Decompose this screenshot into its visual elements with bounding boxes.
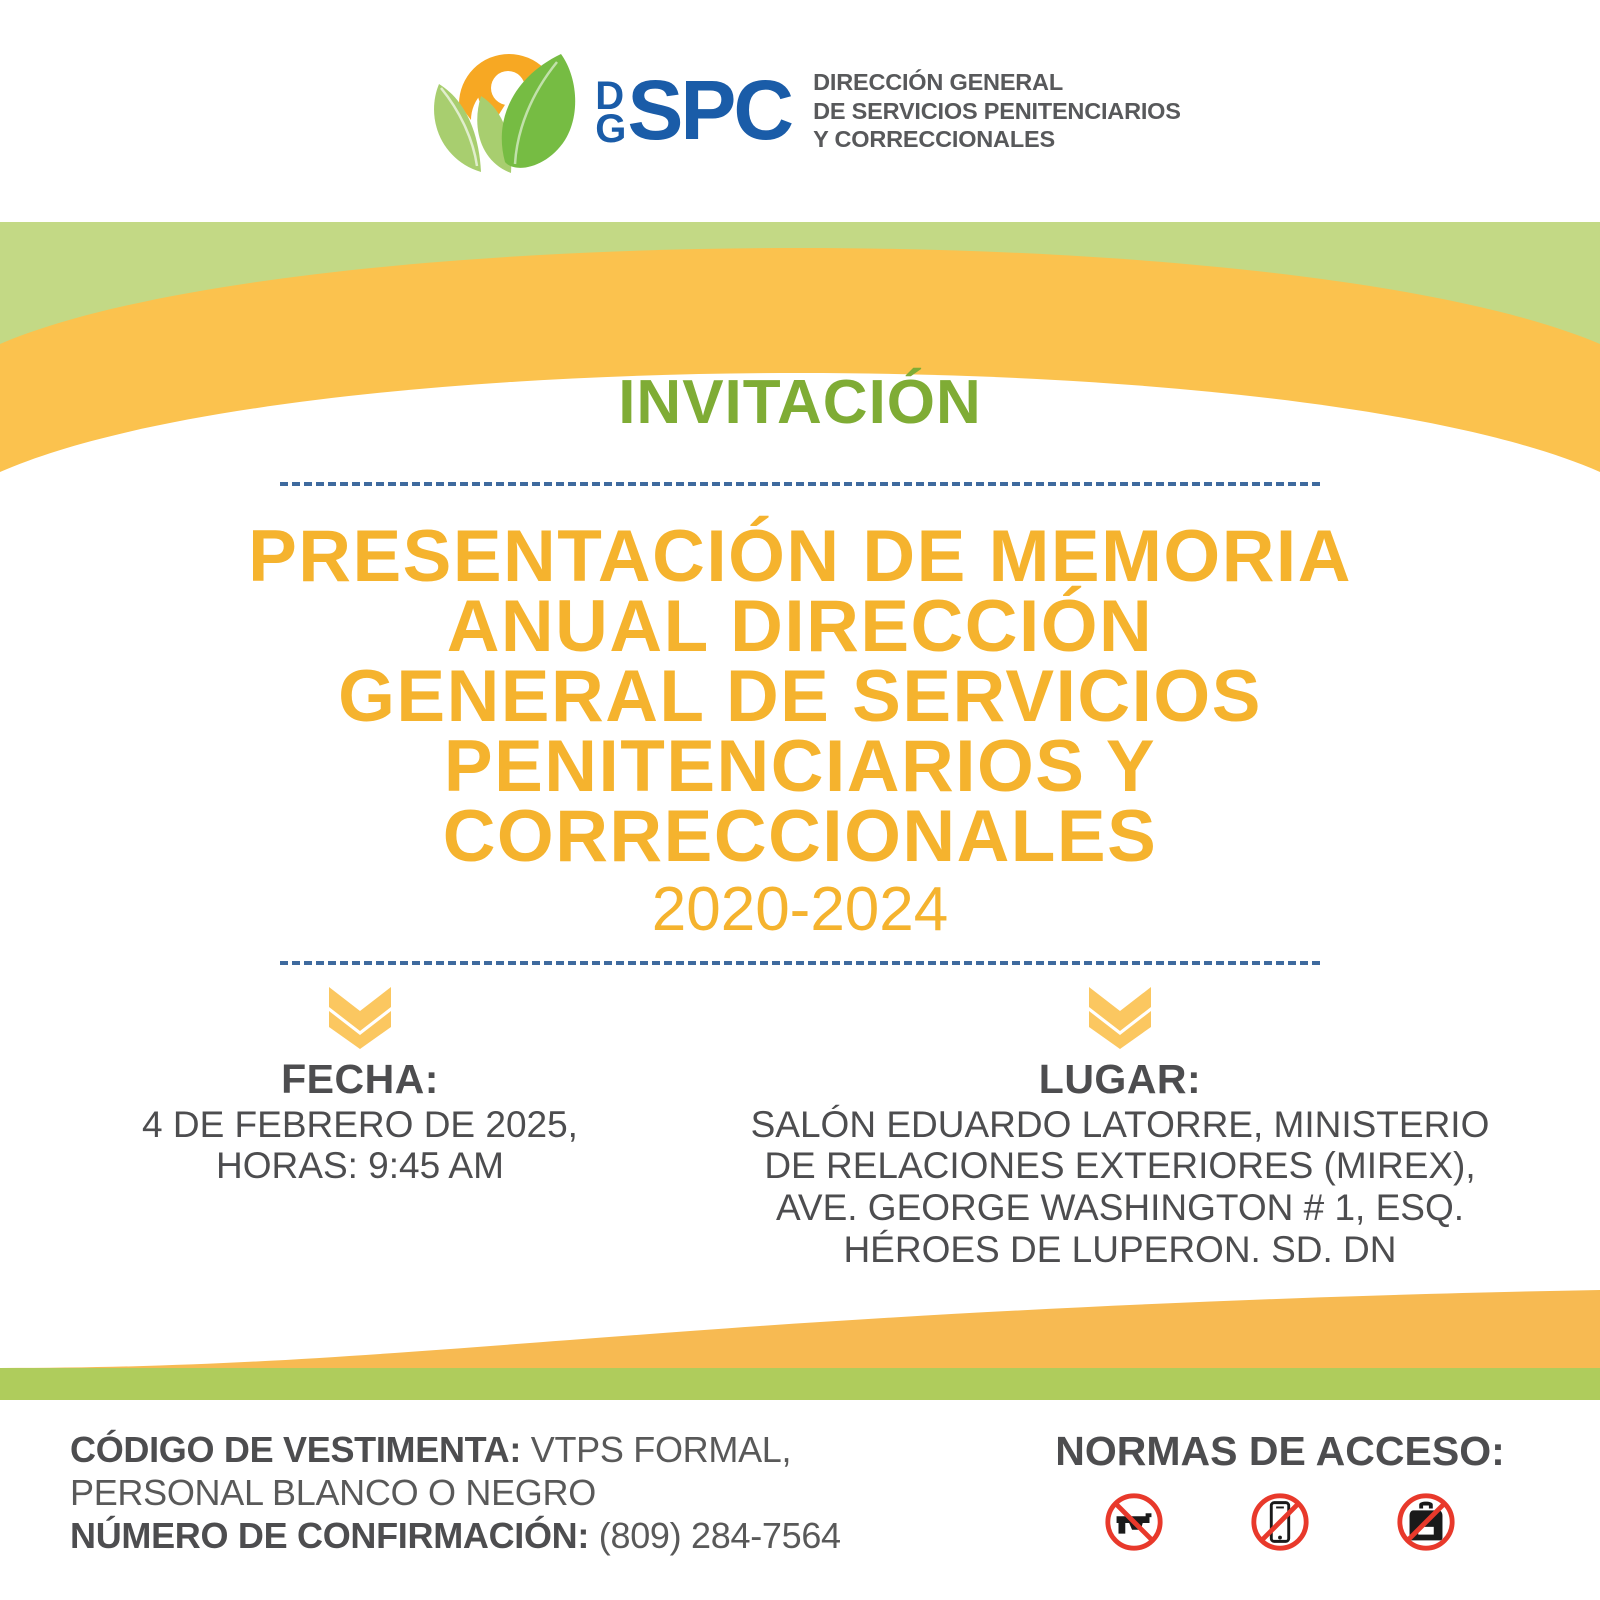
logo-lockup: D G SPC DIRECCIÓN GENERAL DE SERVICIOS P… bbox=[419, 36, 1180, 186]
page-kicker: INVITACIÓN bbox=[0, 372, 1600, 434]
date-line-2: HORAS: 9:45 AM bbox=[142, 1145, 578, 1187]
title-line-2: ANUAL DIRECCIÓN bbox=[70, 592, 1530, 662]
place-value: SALÓN EDUARDO LATORRE, MINISTERIO DE REL… bbox=[751, 1104, 1490, 1271]
footer: CÓDIGO DE VESTIMENTA: VTPS FORMAL, PERSO… bbox=[0, 1400, 1600, 1600]
logo-org-line-3: Y CORRECCIONALES bbox=[813, 125, 1181, 154]
event-place-block: LUGAR: SALÓN EDUARDO LATORRE, MINISTERIO… bbox=[680, 985, 1560, 1271]
title-line-1: PRESENTACIÓN DE MEMORIA bbox=[70, 522, 1530, 592]
date-heading: FECHA: bbox=[281, 1057, 439, 1102]
logo-org-line-2: DE SERVICIOS PENITENCIARIOS bbox=[813, 97, 1181, 126]
place-line-4: HÉROES DE LUPERON. SD. DN bbox=[751, 1229, 1490, 1271]
page-title: PRESENTACIÓN DE MEMORIA ANUAL DIRECCIÓN … bbox=[0, 522, 1600, 872]
divider-bottom bbox=[280, 961, 1320, 965]
double-chevron-down-icon bbox=[325, 985, 395, 1051]
invitation-content: INVITACIÓN PRESENTACIÓN DE MEMORIA ANUAL… bbox=[0, 222, 1600, 1382]
dress-code-label: CÓDIGO DE VESTIMENTA: bbox=[70, 1429, 521, 1470]
logo-org-line-1: DIRECCIÓN GENERAL bbox=[813, 68, 1181, 97]
no-firearms-icon bbox=[1103, 1491, 1165, 1553]
double-chevron-down-icon bbox=[1085, 985, 1155, 1051]
logo-wordmark: D G SPC DIRECCIÓN GENERAL DE SERVICIOS P… bbox=[595, 68, 1180, 154]
access-rules-icon-row bbox=[1030, 1491, 1530, 1553]
place-line-3: AVE. GEORGE WASHINGTON # 1, ESQ. bbox=[751, 1187, 1490, 1229]
dress-code-value: VTPS FORMAL, bbox=[531, 1429, 791, 1470]
event-info-row: FECHA: 4 DE FEBRERO DE 2025, HORAS: 9:45… bbox=[0, 985, 1600, 1271]
event-date-block: FECHA: 4 DE FEBRERO DE 2025, HORAS: 9:45… bbox=[40, 985, 680, 1188]
access-rules-title: NORMAS DE ACCESO: bbox=[1030, 1428, 1530, 1475]
title-year-range: 2020-2024 bbox=[0, 876, 1600, 944]
logo-acronym: SPC bbox=[627, 75, 791, 146]
dgspc-leaf-sun-logo-icon bbox=[419, 36, 599, 186]
title-line-3: GENERAL DE SERVICIOS bbox=[70, 662, 1530, 732]
date-line-1: 4 DE FEBRERO DE 2025, bbox=[142, 1104, 578, 1146]
no-backpack-icon bbox=[1395, 1491, 1457, 1553]
logo-letter-g: G bbox=[595, 113, 625, 146]
place-heading: LUGAR: bbox=[1039, 1057, 1201, 1102]
no-mobile-phone-icon bbox=[1249, 1491, 1311, 1553]
date-value: 4 DE FEBRERO DE 2025, HORAS: 9:45 AM bbox=[142, 1104, 578, 1188]
logo-org-name: DIRECCIÓN GENERAL DE SERVICIOS PENITENCI… bbox=[813, 68, 1181, 154]
logo-dg-stack: D G bbox=[595, 76, 625, 146]
dress-code-line: CÓDIGO DE VESTIMENTA: VTPS FORMAL, bbox=[70, 1428, 1020, 1471]
footer-dress-code: CÓDIGO DE VESTIMENTA: VTPS FORMAL, PERSO… bbox=[70, 1428, 1020, 1600]
footer-access-rules: NORMAS DE ACCESO: bbox=[1020, 1428, 1530, 1600]
confirm-phone-number: (809) 284-7564 bbox=[599, 1515, 841, 1556]
place-line-2: DE RELACIONES EXTERIORES (MIREX), bbox=[751, 1145, 1490, 1187]
title-line-4: PENITENCIARIOS Y bbox=[70, 732, 1530, 802]
logo-header: D G SPC DIRECCIÓN GENERAL DE SERVICIOS P… bbox=[0, 0, 1600, 222]
divider-top bbox=[280, 482, 1320, 486]
confirm-line: NÚMERO DE CONFIRMACIÓN: (809) 284-7564 bbox=[70, 1514, 1020, 1557]
confirm-label: NÚMERO DE CONFIRMACIÓN: bbox=[70, 1515, 589, 1556]
place-line-1: SALÓN EDUARDO LATORRE, MINISTERIO bbox=[751, 1104, 1490, 1146]
title-line-5: CORRECCIONALES bbox=[70, 802, 1530, 872]
dress-code-line-2: PERSONAL BLANCO O NEGRO bbox=[70, 1471, 1020, 1514]
